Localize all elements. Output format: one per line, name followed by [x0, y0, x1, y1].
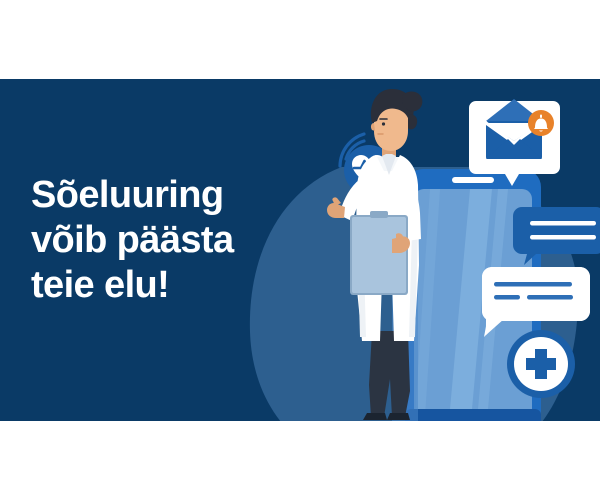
doctor-graphic [327, 89, 422, 420]
banner-inner: Sõeluuring võib päästa teie elu! [0, 79, 600, 421]
headline-text: Sõeluuring võib päästa teie elu! [31, 173, 331, 308]
promo-banner: Sõeluuring võib päästa teie elu! [0, 79, 600, 421]
medical-cross-graphic [507, 330, 575, 398]
mail-notification-graphic [469, 99, 560, 186]
clipboard-graphic [350, 211, 408, 295]
screenshot-canvas: Sõeluuring võib päästa teie elu! [0, 0, 600, 500]
